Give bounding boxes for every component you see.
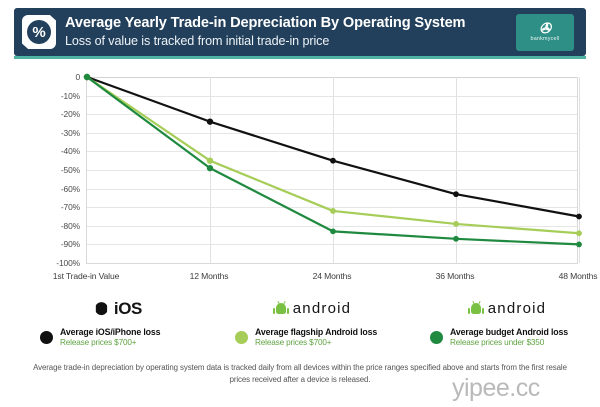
data-point-marker xyxy=(453,191,459,197)
android-icon xyxy=(275,302,288,315)
x-tick-label: 1st Trade-in Value xyxy=(53,271,119,281)
infographic-card: % Average Yearly Trade-in Depreciation B… xyxy=(0,0,600,407)
data-point-marker xyxy=(84,74,90,80)
y-tick-label: -50% xyxy=(61,165,80,175)
data-point-marker xyxy=(576,230,582,236)
x-tick-label: 48 Months xyxy=(559,271,598,281)
data-point-marker xyxy=(207,165,213,171)
y-tick-label: -90% xyxy=(61,239,80,249)
legend-series-row: Average flagship Android lossRelease pri… xyxy=(213,327,413,348)
y-tick-label: -100% xyxy=(56,258,80,268)
legend-entry: ●iOSAverage iOS/iPhone lossRelease price… xyxy=(18,296,218,348)
logo-mark-icon: ✇ xyxy=(539,21,551,35)
data-point-marker xyxy=(207,158,213,164)
data-point-marker xyxy=(330,158,336,164)
chart-legend: ●iOSAverage iOS/iPhone lossRelease price… xyxy=(0,296,600,358)
legend-series-row: Average iOS/iPhone lossRelease prices $7… xyxy=(18,327,218,348)
apple-icon: ● xyxy=(94,300,109,317)
legend-series-sublabel: Release prices $700+ xyxy=(60,338,160,348)
legend-brand-name: android xyxy=(293,301,351,316)
bankmycell-logo: ✇ bankmycell xyxy=(516,14,574,51)
legend-brand-row: ●iOS xyxy=(18,296,218,320)
plot-frame xyxy=(86,77,578,263)
page-subtitle: Loss of value is tracked from initial tr… xyxy=(65,33,516,49)
y-tick-label: -80% xyxy=(61,221,80,231)
footer-note: Average trade-in depreciation by operati… xyxy=(30,362,570,387)
legend-series-label: Average budget Android loss xyxy=(450,327,568,338)
x-tick-label: 12 Months xyxy=(190,271,229,281)
x-axis-labels: 1st Trade-in Value12 Months24 Months36 M… xyxy=(86,267,578,289)
data-point-marker xyxy=(453,236,459,242)
header-banner: % Average Yearly Trade-in Depreciation B… xyxy=(14,8,586,56)
legend-brand-name: android xyxy=(488,301,546,316)
x-axis-line xyxy=(86,263,578,264)
legend-series-label: Average iOS/iPhone loss xyxy=(60,327,160,338)
data-point-marker xyxy=(576,214,582,220)
legend-series-sublabel: Release prices $700+ xyxy=(255,338,377,348)
data-point-marker xyxy=(576,242,582,248)
y-tick-label: -30% xyxy=(61,128,80,138)
data-point-marker xyxy=(207,118,213,124)
header-text-group: Average Yearly Trade-in Depreciation By … xyxy=(65,14,516,49)
footer-line-1: Average trade-in depreciation by operati… xyxy=(33,363,478,372)
percent-badge-icon: % xyxy=(22,15,56,49)
x-tick-label: 36 Months xyxy=(436,271,475,281)
legend-series-row: Average budget Android lossRelease price… xyxy=(408,327,600,348)
legend-entry: androidAverage flagship Android lossRele… xyxy=(213,296,413,348)
data-point-marker xyxy=(330,208,336,214)
chart-area: 0-10%-20%-30%-40%-50%-60%-70%-80%-90%-10… xyxy=(0,62,600,294)
legend-brand-name: iOS xyxy=(114,300,142,317)
legend-brand-row: android xyxy=(408,296,600,320)
page-title: Average Yearly Trade-in Depreciation By … xyxy=(65,14,516,33)
y-tick-label: 0 xyxy=(75,72,80,82)
y-axis-labels: 0-10%-20%-30%-40%-50%-60%-70%-80%-90%-10… xyxy=(22,62,80,294)
legend-entry: androidAverage budget Android lossReleas… xyxy=(408,296,600,348)
legend-series-sublabel: Release prices under $350 xyxy=(450,338,568,348)
header-accent-bar xyxy=(14,56,586,59)
y-tick-label: -70% xyxy=(61,202,80,212)
legend-brand-row: android xyxy=(213,296,413,320)
legend-series-label: Average flagship Android loss xyxy=(255,327,377,338)
legend-color-swatch xyxy=(40,331,53,344)
android-icon xyxy=(470,302,483,315)
data-point-marker xyxy=(453,221,459,227)
y-tick-label: -10% xyxy=(61,91,80,101)
series-lines xyxy=(87,77,579,263)
y-tick-label: -20% xyxy=(61,109,80,119)
series-line xyxy=(87,77,579,217)
data-point-marker xyxy=(330,228,336,234)
legend-color-swatch xyxy=(430,331,443,344)
y-tick-label: -60% xyxy=(61,184,80,194)
legend-text-group: Average budget Android lossRelease price… xyxy=(450,327,568,348)
legend-text-group: Average flagship Android lossRelease pri… xyxy=(255,327,377,348)
percent-glyph: % xyxy=(27,20,51,44)
x-tick-label: 24 Months xyxy=(313,271,352,281)
legend-text-group: Average iOS/iPhone lossRelease prices $7… xyxy=(60,327,160,348)
legend-color-swatch xyxy=(235,331,248,344)
y-tick-label: -40% xyxy=(61,146,80,156)
logo-wordmark: bankmycell xyxy=(531,37,560,42)
